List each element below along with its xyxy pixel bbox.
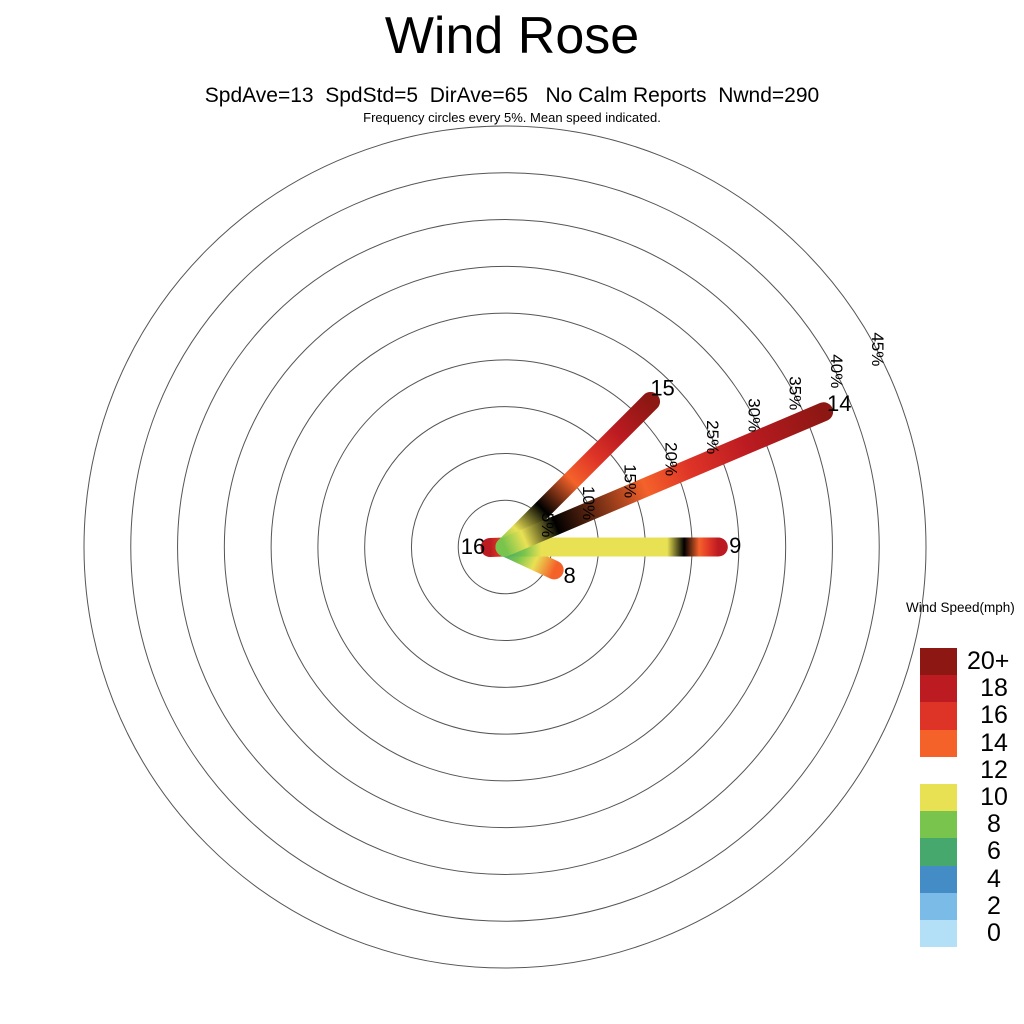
legend-label: 16	[967, 703, 1021, 728]
wind-rose-page: Wind Rose SpdAve=13 SpdStd=5 DirAve=65 N…	[0, 0, 1024, 1024]
legend-swatch	[920, 920, 957, 947]
legend-label: 18	[967, 676, 1021, 701]
radial-tick-label: 35%	[786, 376, 805, 410]
legend-row: 0	[920, 920, 1021, 947]
legend-label: 0	[967, 921, 1021, 946]
radial-tick-label: 40%	[827, 354, 846, 388]
wind-petals	[490, 401, 824, 569]
legend-row: 16	[920, 702, 1021, 729]
legend-label: 14	[967, 731, 1021, 756]
legend-swatch	[920, 730, 957, 757]
legend-swatch	[920, 866, 957, 893]
legend-row: 4	[920, 866, 1021, 893]
legend-swatch	[920, 811, 957, 838]
legend-row: 18	[920, 675, 1021, 702]
legend-swatch	[920, 675, 957, 702]
legend-swatch	[920, 784, 957, 811]
radial-tick-label: 10%	[579, 486, 598, 520]
petal-label: 15	[650, 375, 674, 400]
petal-label: 9	[729, 533, 741, 558]
legend-label: 12	[967, 758, 1021, 783]
wind-rose-plot: 5%10%15%20%25%30%35%40%45% 16891514	[0, 0, 1024, 1024]
legend-title: Wind Speed(mph)	[906, 600, 1024, 615]
legend-swatch	[920, 702, 957, 729]
radial-tick-label: 5%	[538, 513, 557, 538]
radial-tick-label: 30%	[744, 398, 763, 432]
legend-row: 2	[920, 893, 1021, 920]
legend-row: 6	[920, 838, 1021, 865]
legend-swatch	[920, 648, 957, 675]
legend-row: 8	[920, 811, 1021, 838]
legend-row: 20+	[920, 648, 1021, 675]
radial-tick-label: 25%	[703, 420, 722, 454]
legend-entries: 20+181614121086420	[920, 648, 1021, 947]
radial-tick-labels: 5%10%15%20%25%30%35%40%45%	[538, 332, 887, 537]
legend-swatch	[920, 838, 957, 865]
legend-label: 20+	[967, 649, 1021, 674]
legend-row: 12	[920, 757, 1021, 784]
petal-label: 14	[827, 391, 851, 416]
petal-label: 16	[461, 534, 485, 559]
legend-swatch	[920, 757, 957, 784]
legend-label: 4	[967, 867, 1021, 892]
legend-label: 6	[967, 839, 1021, 864]
petal-label: 8	[563, 563, 575, 588]
legend-label: 10	[967, 785, 1021, 810]
radial-tick-label: 15%	[620, 464, 639, 498]
legend: Wind Speed(mph) 20+181614121086420	[902, 600, 1024, 615]
legend-row: 14	[920, 730, 1021, 757]
legend-label: 8	[967, 812, 1021, 837]
legend-row: 10	[920, 784, 1021, 811]
legend-swatch	[920, 893, 957, 920]
radial-tick-label: 20%	[662, 442, 681, 476]
legend-label: 2	[967, 894, 1021, 919]
radial-tick-label: 45%	[868, 332, 887, 366]
